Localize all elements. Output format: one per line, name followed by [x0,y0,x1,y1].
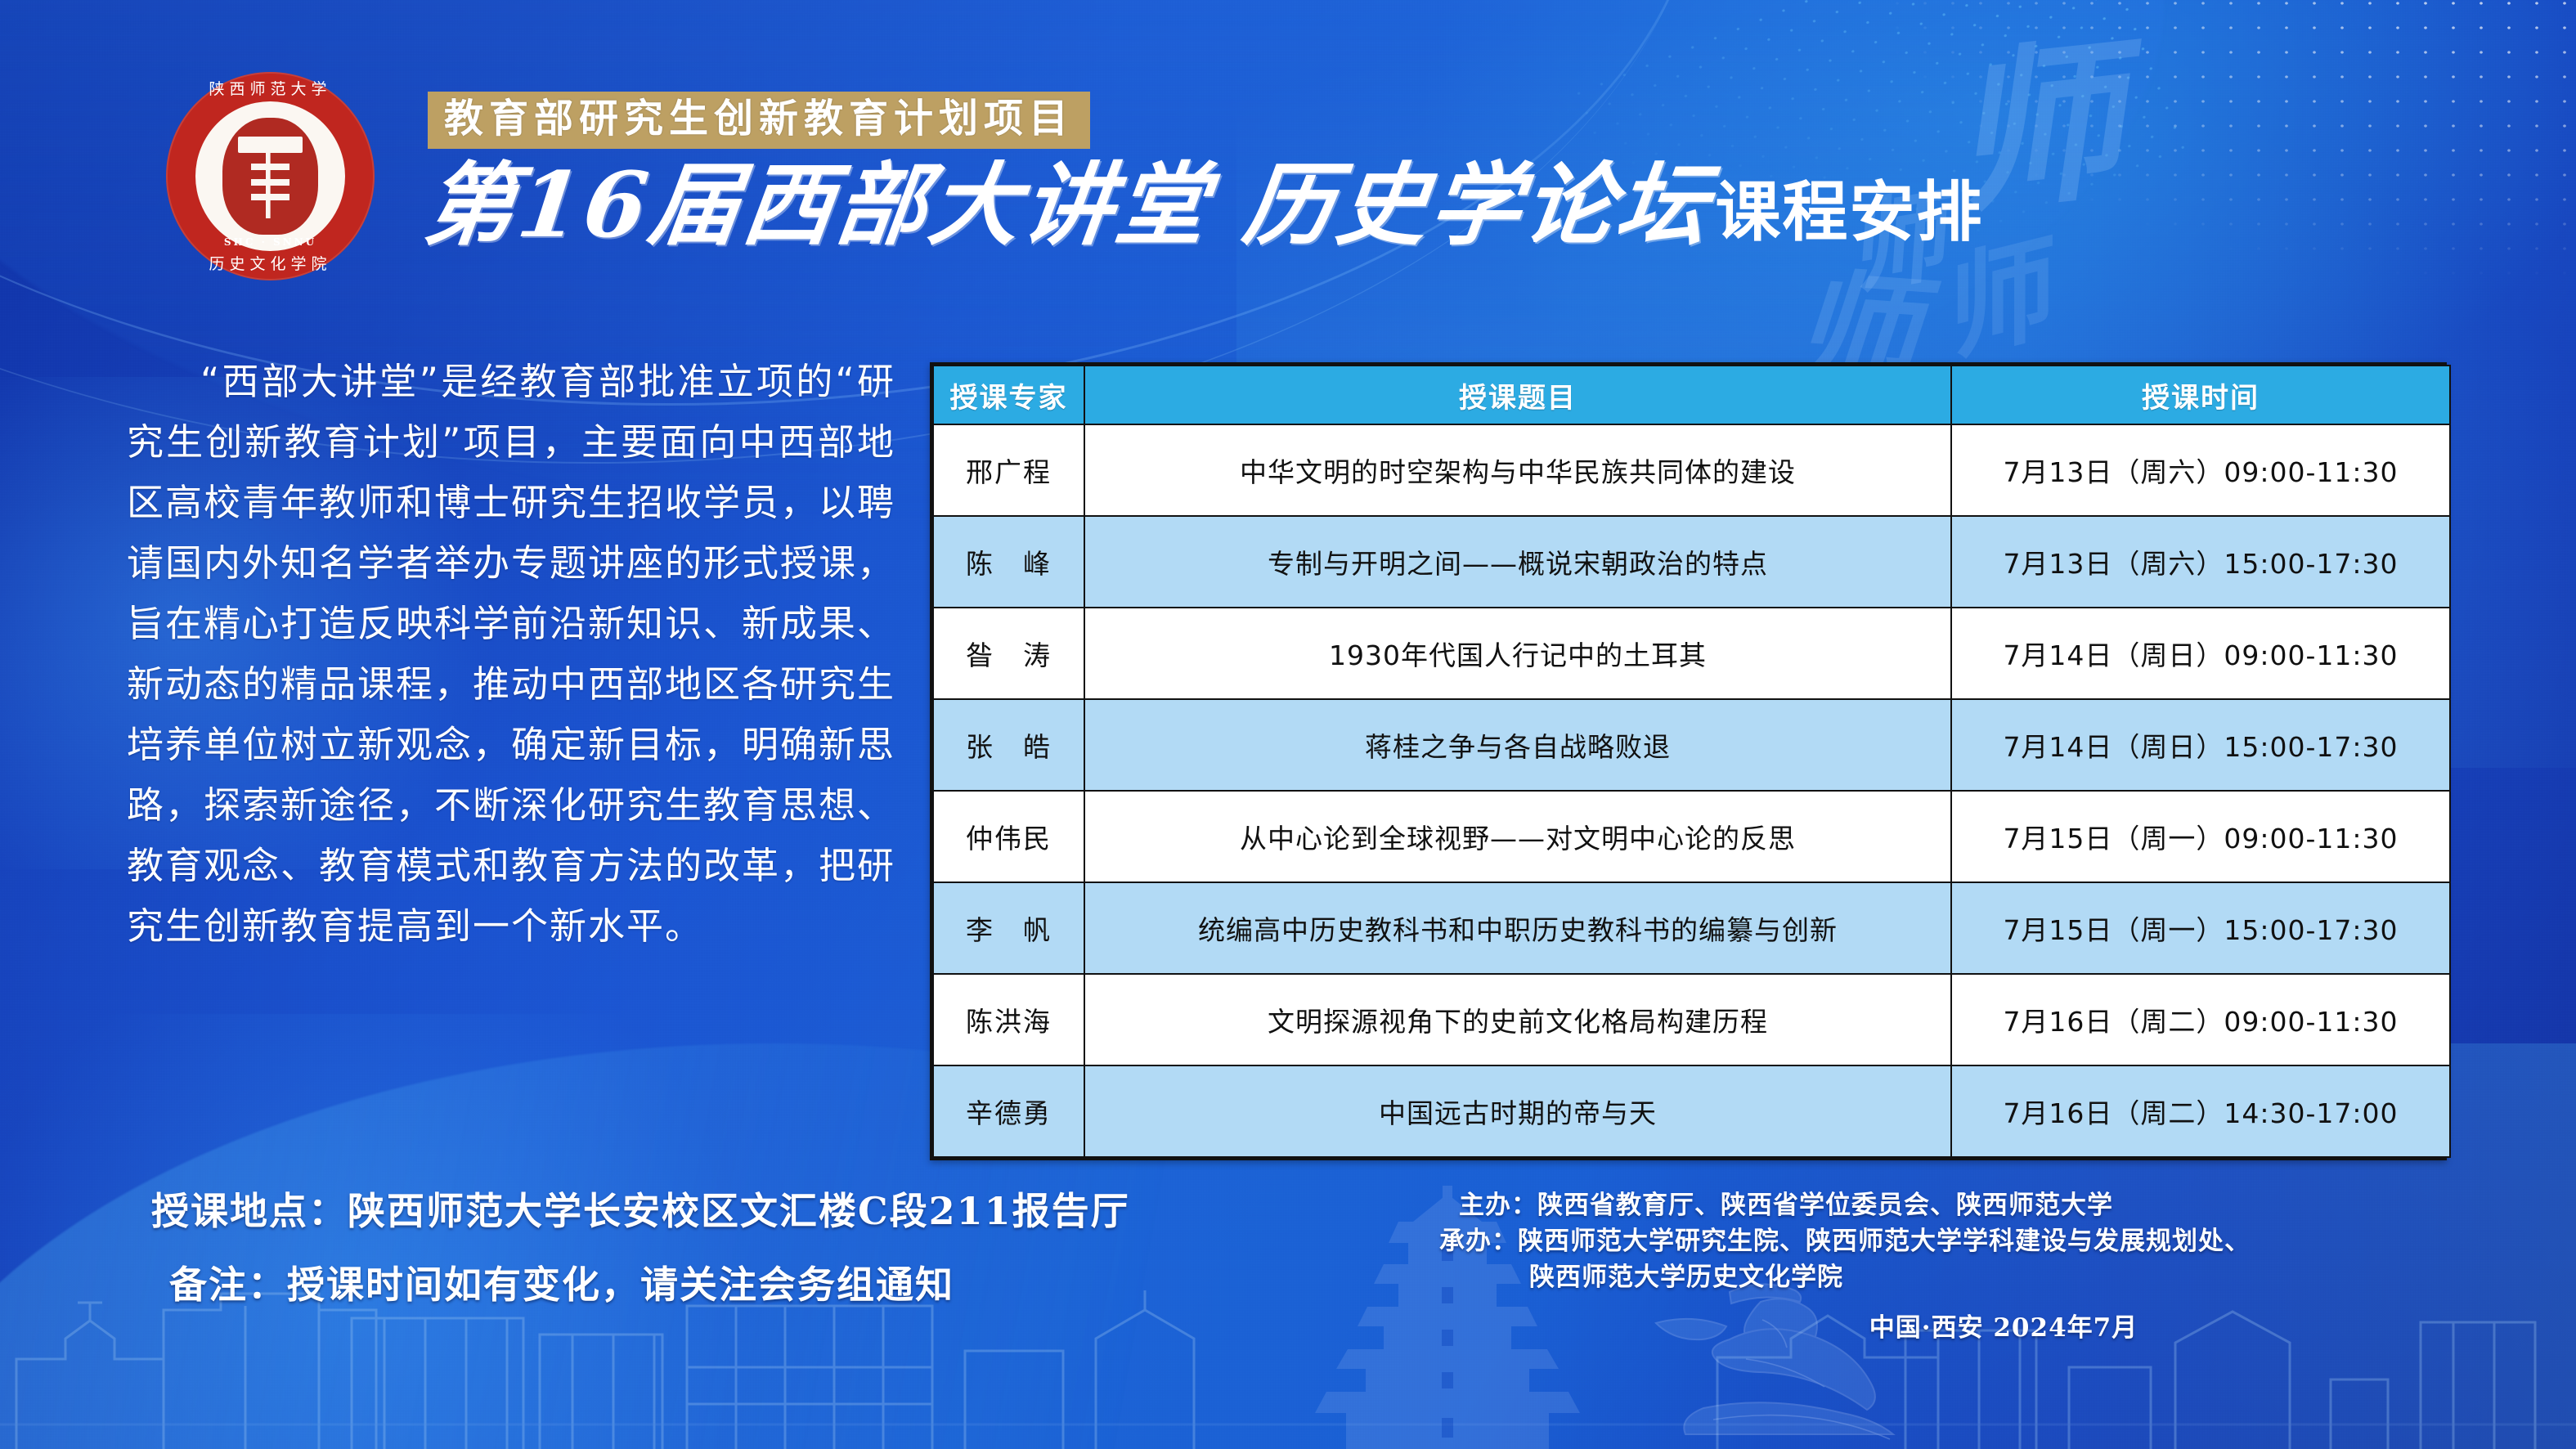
cell-time: 7月13日（周六）15:00-17:30 [1951,516,2450,608]
column-header-expert: 授课专家 [933,366,1084,424]
program-banner: 教育部研究生创新教育计划项目 [428,92,1090,149]
cell-expert: 李 帆 [933,882,1084,974]
cell-topic: 中国远古时期的帝与天 [1084,1065,1951,1157]
cell-topic: 从中心论到全球视野——对文明中心论的反思 [1084,791,1951,882]
column-header-time: 授课时间 [1951,366,2450,424]
organizer-line-2: 陕西师范大学历史文化学院 [1439,1259,2453,1295]
cell-time: 7月14日（周日）09:00-11:30 [1951,608,2450,699]
venue-line: 授课地点：陕西师范大学长安校区文汇楼C段211报告厅 [151,1182,1214,1236]
crest-top-text: 陕西师范大学 [166,77,375,99]
footer-organizers-block: 主办：陕西省教育厅、陕西省学位委员会、陕西师范大学 承办：陕西师范大学研究生院、… [1439,1187,2453,1346]
cell-topic: 统编高中历史教科书和中职历史教科书的编纂与创新 [1084,882,1951,974]
cell-time: 7月15日（周一）15:00-17:30 [1951,882,2450,974]
title-suffix: 课程安排 [1715,180,1983,250]
cell-expert: 辛德勇 [933,1065,1084,1157]
page-title: 第16届西部大讲堂 历史学论坛 课程安排 [425,160,1983,250]
organizer-line-1: 承办：陕西师范大学研究生院、陕西师范大学学科建设与发展规划处、 [1439,1223,2453,1259]
schedule-table-container: 授课专家 授课题目 授课时间 邢广程 中华文明的时空架构与中华民族共同体的建设 … [930,362,2447,1160]
cell-expert: 陈洪海 [933,974,1084,1065]
program-banner-label: 教育部研究生创新教育计划项目 [444,99,1074,138]
column-header-topic: 授课题目 [1084,366,1951,424]
cell-topic: 中华文明的时空架构与中华民族共同体的建设 [1084,424,1951,516]
university-seal-icon: 陕西师范大学 SHC · SNNU 历史文化学院 [166,72,375,280]
host-line: 主办：陕西省教育厅、陕西省学位委员会、陕西师范大学 [1439,1187,2453,1223]
cell-time: 7月16日（周二）09:00-11:30 [1951,974,2450,1065]
footer-venue-block: 授课地点：陕西师范大学长安校区文汇楼C段211报告厅 备注：授课时间如有变化，请… [151,1182,1214,1309]
cell-time: 7月14日（周日）15:00-17:30 [1951,699,2450,791]
intro-paragraph: “西部大讲堂”是经教育部批准立项的“研究生创新教育计划”项目，主要面向中西部地区… [127,352,895,957]
cell-expert: 邢广程 [933,424,1084,516]
poster-header: 陕西师范大学 SHC · SNNU 历史文化学院 教育部研究生创新教育计划项目 … [0,0,2576,343]
cell-expert: 张 皓 [933,699,1084,791]
table-row: 陈洪海 文明探源视角下的史前文化格局构建历程 7月16日（周二）09:00-11… [933,974,2450,1065]
table-row: 仲伟民 从中心论到全球视野——对文明中心论的反思 7月15日（周一）09:00-… [933,791,2450,882]
cell-expert: 仲伟民 [933,791,1084,882]
cell-topic: 文明探源视角下的史前文化格局构建历程 [1084,974,1951,1065]
table-row: 邢广程 中华文明的时空架构与中华民族共同体的建设 7月13日（周六）09:00-… [933,424,2450,516]
cell-time: 7月13日（周六）09:00-11:30 [1951,424,2450,516]
crest-bottom-text: 历史文化学院 [166,252,375,274]
cell-expert: 陈 峰 [933,516,1084,608]
table-row: 辛德勇 中国远古时期的帝与天 7月16日（周二）14:30-17:00 [933,1065,2450,1157]
table-row: 李 帆 统编高中历史教科书和中职历史教科书的编纂与创新 7月15日（周一）15:… [933,882,2450,974]
cell-expert: 昝 涛 [933,608,1084,699]
table-header-row: 授课专家 授课题目 授课时间 [933,366,2450,424]
title-main: 第16届西部大讲堂 历史学论坛 [420,160,1716,250]
table-row: 陈 峰 专制与开明之间——概说宋朝政治的特点 7月13日（周六）15:00-17… [933,516,2450,608]
note-line: 备注：授课时间如有变化，请关注会务组通知 [169,1255,1214,1309]
cell-topic: 蒋桂之争与各自战略败退 [1084,699,1951,791]
place-date-line: 中国·西安 2024年7月 [1439,1295,2453,1346]
schedule-table: 授课专家 授课题目 授课时间 邢广程 中华文明的时空架构与中华民族共同体的建设 … [932,365,2451,1158]
table-row: 昝 涛 1930年代国人行记中的土耳其 7月14日（周日）09:00-11:30 [933,608,2450,699]
cell-time: 7月16日（周二）14:30-17:00 [1951,1065,2450,1157]
schedule-table-body: 邢广程 中华文明的时空架构与中华民族共同体的建设 7月13日（周六）09:00-… [933,424,2450,1157]
cell-time: 7月15日（周一）09:00-11:30 [1951,791,2450,882]
table-row: 张 皓 蒋桂之争与各自战略败退 7月14日（周日）15:00-17:30 [933,699,2450,791]
crest-latin-text: SHC · SNNU [166,236,375,248]
poster-canvas: 师 师 师 师 [0,0,2576,1449]
cell-topic: 1930年代国人行记中的土耳其 [1084,608,1951,699]
cell-topic: 专制与开明之间——概说宋朝政治的特点 [1084,516,1951,608]
